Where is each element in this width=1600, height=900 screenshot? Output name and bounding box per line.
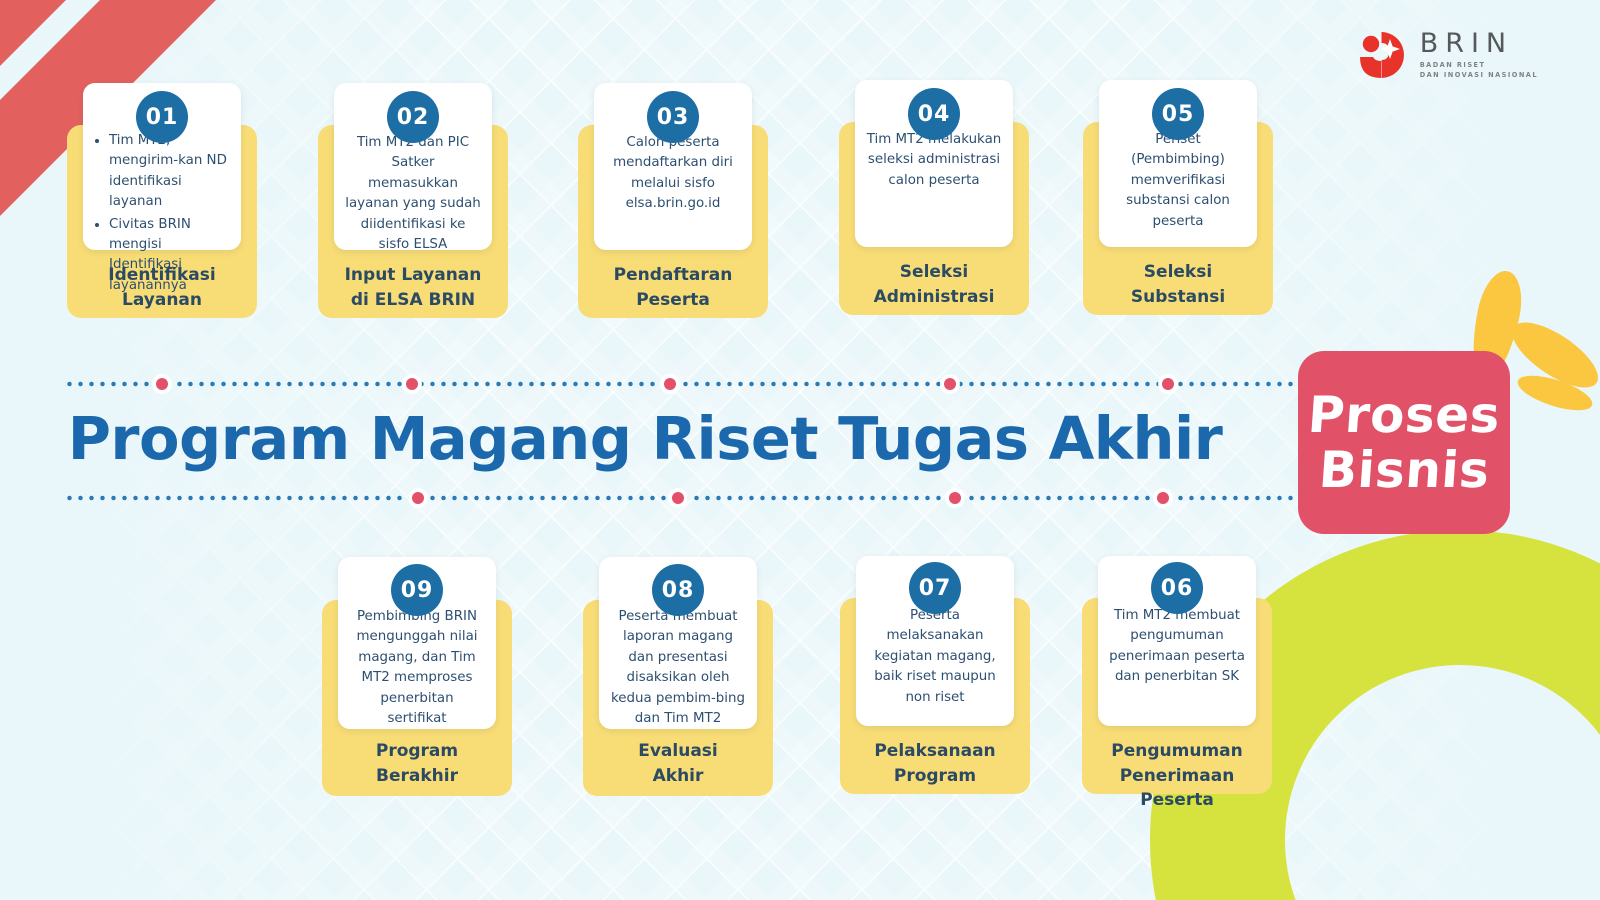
brin-tagline: BADAN RISET DAN INOVASI NASIONAL (1420, 61, 1538, 80)
step-card-label: SeleksiAdministrasi (839, 260, 1029, 309)
step-card-label: SeleksiSubstansi (1083, 260, 1273, 309)
badge-line-1: Proses (1306, 389, 1502, 442)
timeline-node-dot (941, 375, 959, 393)
step-card-label: PendaftaranPeserta (578, 263, 768, 312)
step-label-line-2: Layanan (67, 288, 257, 313)
timeline-node-dot (1159, 375, 1177, 393)
step-label-line-1: Seleksi (839, 260, 1029, 285)
step-label-line-2: Program (840, 764, 1030, 789)
step-label-line-2: Penerimaan Peserta (1082, 764, 1272, 813)
step-number-badge: 01 (136, 91, 188, 143)
step-label-line-2: Akhir (583, 764, 773, 789)
step-card-label: Input Layanandi ELSA BRIN (318, 263, 508, 312)
step-label-line-1: Identifikasi (67, 263, 257, 288)
step-label-line-2: Berakhir (322, 764, 512, 789)
step-number-badge: 09 (391, 564, 443, 616)
step-label-line-2: Substansi (1083, 285, 1273, 310)
step-label-line-1: Evaluasi (583, 739, 773, 764)
step-number-badge: 04 (908, 88, 960, 140)
step-number-badge: 05 (1152, 88, 1204, 140)
proses-bisnis-badge: Proses Bisnis (1290, 255, 1590, 545)
step-card-label: PelaksanaanProgram (840, 739, 1030, 788)
step-label-line-2: di ELSA BRIN (318, 288, 508, 313)
timeline-node-dot (669, 489, 687, 507)
step-number-badge: 02 (387, 91, 439, 143)
step-card-label: PengumumanPenerimaan Peserta (1082, 739, 1272, 813)
step-card-bullet: Tim MT2, mengirim-kan ND identifikasi la… (109, 131, 233, 213)
timeline-node-dot (409, 489, 427, 507)
timeline-node-dot (403, 375, 421, 393)
timeline-node-dot (1154, 489, 1172, 507)
step-label-line-1: Program (322, 739, 512, 764)
badge-panel: Proses Bisnis (1298, 351, 1510, 534)
infographic-canvas: BRIN BADAN RISET DAN INOVASI NASIONAL Pr… (0, 0, 1600, 900)
brin-tagline-line1: BADAN RISET (1420, 61, 1538, 71)
timeline-line-top (64, 381, 1296, 387)
step-label-line-1: Pengumuman (1082, 739, 1272, 764)
brin-logo: BRIN BADAN RISET DAN INOVASI NASIONAL (1356, 30, 1538, 80)
timeline-node-dot (153, 375, 171, 393)
badge-line-2: Bisnis (1317, 444, 1491, 497)
brin-tagline-line2: DAN INOVASI NASIONAL (1420, 71, 1538, 81)
timeline-node-dot (661, 375, 679, 393)
brin-name: BRIN (1420, 30, 1538, 57)
step-card-label: IdentifikasiLayanan (67, 263, 257, 312)
step-card-label: ProgramBerakhir (322, 739, 512, 788)
step-label-line-2: Administrasi (839, 285, 1029, 310)
step-number-badge: 06 (1151, 562, 1203, 614)
step-card-label: EvaluasiAkhir (583, 739, 773, 788)
step-number-badge: 07 (909, 562, 961, 614)
step-number-badge: 08 (652, 564, 704, 616)
step-label-line-1: Input Layanan (318, 263, 508, 288)
step-number-badge: 03 (647, 91, 699, 143)
timeline-line-bottom (64, 495, 1296, 501)
step-label-line-1: Pendaftaran (578, 263, 768, 288)
page-title: Program Magang Riset Tugas Akhir (0, 404, 1290, 473)
step-label-line-1: Pelaksanaan (840, 739, 1030, 764)
brin-mark-icon (1356, 30, 1406, 80)
step-label-line-1: Seleksi (1083, 260, 1273, 285)
step-label-line-2: Peserta (578, 288, 768, 313)
brin-wordmark: BRIN BADAN RISET DAN INOVASI NASIONAL (1420, 30, 1538, 80)
timeline-node-dot (946, 489, 964, 507)
